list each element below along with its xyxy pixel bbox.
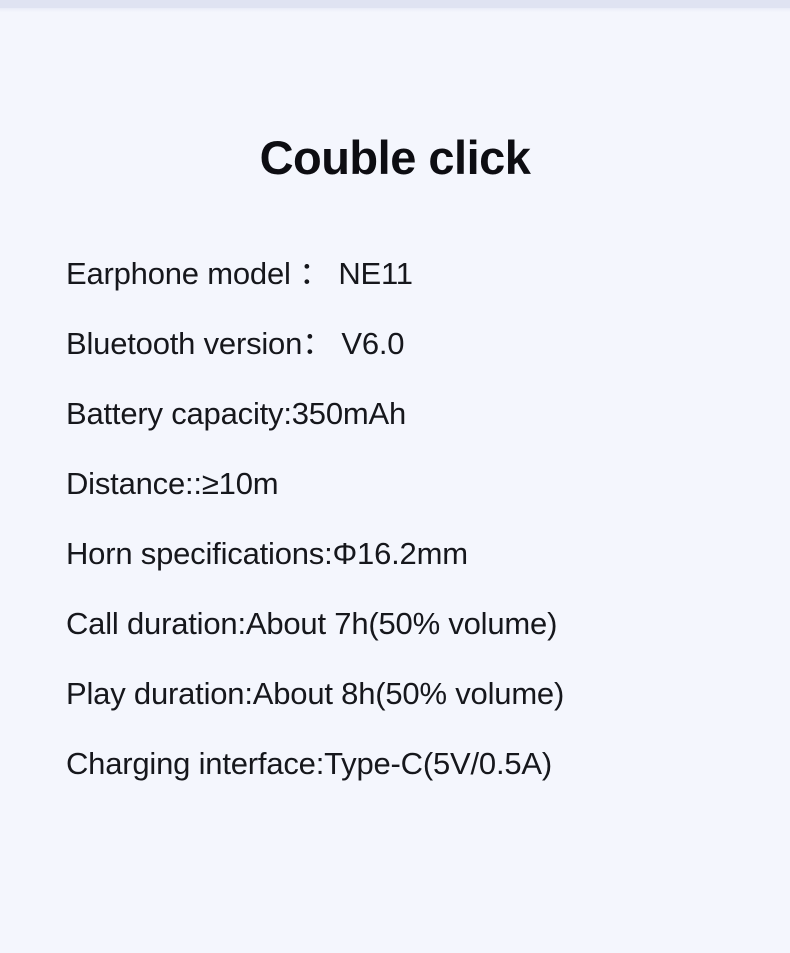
spec-item-play-duration: Play duration:About 8h(50% volume) <box>66 678 766 748</box>
product-spec-page: Couble click Earphone model ： NE11 Bluet… <box>0 0 790 953</box>
specification-list: Earphone model ： NE11 Bluetooth version：… <box>66 258 766 818</box>
spec-item-horn-specifications: Horn specifications:Φ16.2mm <box>66 538 766 608</box>
page-title: Couble click <box>0 132 790 185</box>
spec-item-distance: Distance::≥10m <box>66 468 766 538</box>
spec-item-call-duration: Call duration:About 7h(50% volume) <box>66 608 766 678</box>
top-edge-band <box>0 0 790 8</box>
spec-item-charging-interface: Charging interface:Type-C(5V/0.5A) <box>66 748 766 818</box>
spec-item-bluetooth-version: Bluetooth version： V6.0 <box>66 328 766 398</box>
top-edge-band-fade <box>0 8 790 12</box>
spec-item-earphone-model: Earphone model ： NE11 <box>66 258 766 328</box>
spec-item-battery-capacity: Battery capacity:350mAh <box>66 398 766 468</box>
